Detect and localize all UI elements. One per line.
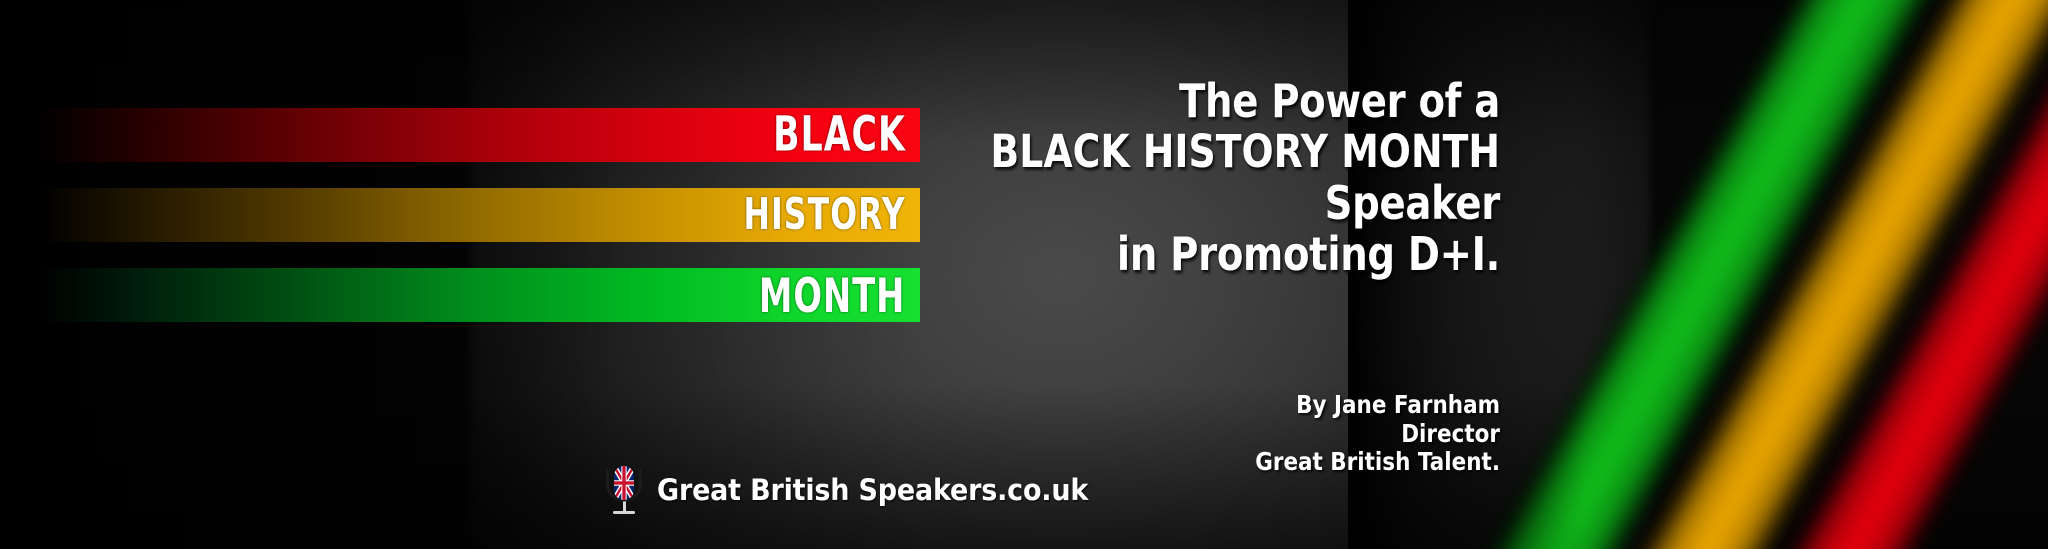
- microphone-union-jack-icon: [604, 462, 644, 518]
- brand-name: Great British Speakers.co.uk: [657, 473, 1088, 507]
- headline-line-3: Speaker: [979, 182, 1500, 225]
- bhm-bar-history: HISTORY: [38, 188, 920, 242]
- byline-role: Director: [967, 421, 1500, 447]
- bhm-bar-month: MONTH: [38, 268, 920, 322]
- black-history-month-banner: BLACK HISTORY MONTH The Power of a BLACK…: [0, 0, 2048, 549]
- bhm-bar-history-label: HISTORY: [744, 193, 920, 237]
- bhm-bar-month-label: MONTH: [759, 272, 920, 319]
- brand-logo[interactable]: Great British Speakers.co.uk: [604, 462, 1121, 518]
- union-jack-flag-icon: [614, 466, 634, 500]
- headline-line-2: BLACK HISTORY MONTH: [979, 131, 1500, 173]
- headline-line-4: in Promoting D+I.: [979, 233, 1500, 276]
- bhm-bar-black-label: BLACK: [773, 111, 920, 159]
- byline-author: By Jane Farnham: [967, 392, 1500, 418]
- bhm-logo: BLACK HISTORY MONTH: [0, 108, 960, 358]
- headline: The Power of a BLACK HISTORY MONTH Speak…: [880, 80, 1500, 284]
- bhm-bar-black: BLACK: [38, 108, 920, 162]
- headline-line-1: The Power of a: [979, 80, 1500, 123]
- microphone-base-icon: [613, 511, 635, 514]
